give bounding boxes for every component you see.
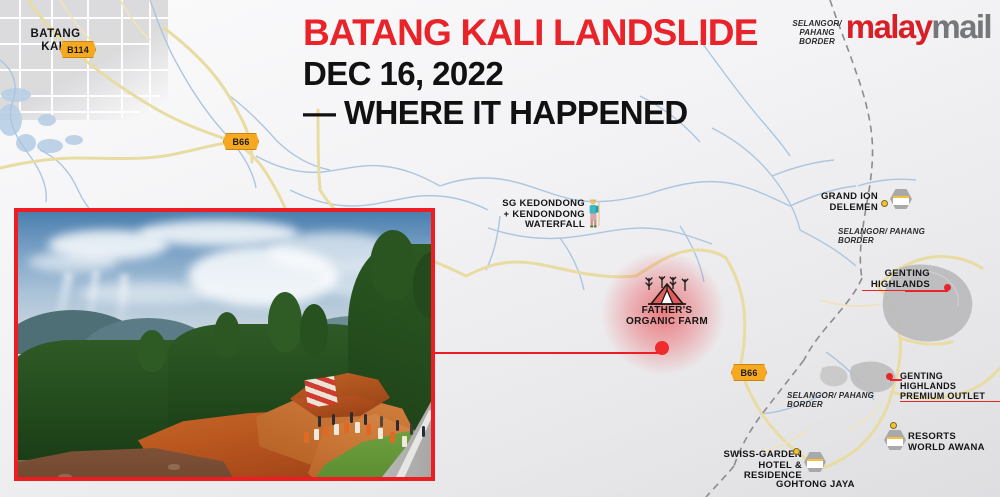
infographic-canvas: B114 B66 B66 BATANG KALI LANDSLIDE DEC 1… xyxy=(0,0,1000,497)
photo-person xyxy=(410,424,413,435)
water-bodies xyxy=(0,88,83,153)
photo-person xyxy=(332,414,335,425)
border-top-line3: BORDER xyxy=(778,38,856,47)
road-badge-b66-south: B66 xyxy=(731,364,767,381)
border-bot-line2: BORDER xyxy=(787,401,897,410)
hiker-icon xyxy=(586,198,602,228)
border-label-middle: SELANGOR/ PAHANG BORDER xyxy=(838,228,948,246)
label-gohtong-line1: GOHTONG JAYA xyxy=(776,480,886,491)
campsite-tent-icon xyxy=(640,276,694,306)
label-outlet-line2: PREMIUM OUTLET xyxy=(900,391,1000,402)
photo-tree xyxy=(370,230,416,300)
label-genting-highlands: GENTING HIGHLANDS xyxy=(862,269,930,291)
photo-person xyxy=(318,416,321,427)
photo-person xyxy=(364,414,367,425)
genting-highlands-marker xyxy=(944,284,951,291)
logo-part-mail: mail xyxy=(931,8,991,45)
label-grand-ion-delemen: GRAND ION DELEMEN xyxy=(790,192,878,213)
road-badge-b114: B114 xyxy=(60,41,96,58)
label-farm-line1: FATHER'S xyxy=(612,305,722,316)
photo-tree xyxy=(268,292,302,352)
photo-traffic-barrier xyxy=(344,422,349,433)
headline-date: DEC 16, 2022 xyxy=(303,55,758,93)
landslide-photo xyxy=(18,212,431,477)
label-batang-kali-line1: BATANG xyxy=(8,28,103,41)
photo-traffic-barrier xyxy=(304,432,309,443)
photo-warning-tape xyxy=(304,376,338,408)
malaymail-logo: malaymail xyxy=(846,8,991,46)
photo-traffic-barrier xyxy=(366,424,371,435)
photo-cloud xyxy=(78,282,218,304)
label-premium-outlet: GENTING HIGHLANDS PREMIUM OUTLET xyxy=(900,371,1000,402)
photo-person xyxy=(396,420,399,431)
photo-person xyxy=(422,426,425,437)
label-resorts-world-awana: RESORTS WORLD AWANA xyxy=(908,432,1000,453)
border-label-bottom: SELANGOR/ PAHANG BORDER xyxy=(787,392,897,410)
grand-ion-delemen-dot xyxy=(881,200,888,207)
photo-tree xyxy=(138,330,166,372)
logo-part-malay: malay xyxy=(846,8,932,45)
photo-traffic-barrier xyxy=(390,432,395,443)
photo-traffic-barrier xyxy=(314,429,319,440)
headline-subtitle: — WHERE IT HAPPENED xyxy=(303,94,758,132)
label-outlet-line1: GENTING HIGHLANDS xyxy=(900,371,1000,391)
premium-outlet-marker xyxy=(886,373,893,380)
photo-tree xyxy=(300,304,328,356)
headline-block: BATANG KALI LANDSLIDE DEC 16, 2022 — WHE… xyxy=(303,14,758,132)
photo-person xyxy=(380,416,383,427)
road-badge-b66-north: B66 xyxy=(223,133,259,150)
awana-road-dot xyxy=(890,422,897,429)
label-awana-line2: WORLD AWANA xyxy=(908,443,1000,454)
photo-traffic-barrier xyxy=(324,426,329,437)
label-grand-ion-line2: DELEMEN xyxy=(790,203,878,214)
photo-traffic-barrier xyxy=(355,422,360,433)
label-gohtong-jaya: GOHTONG JAYA xyxy=(776,480,886,491)
photo-rock xyxy=(58,474,72,477)
photo-cloud xyxy=(28,252,118,272)
swiss-garden-road-dot xyxy=(793,448,800,455)
border-mid-line2: BORDER xyxy=(838,237,948,246)
label-kedondong-line3: WATERFALL xyxy=(495,220,585,231)
border-label-top: SELANGOR/ PAHANG BORDER xyxy=(778,20,856,47)
photo-rock xyxy=(168,464,180,470)
headline-primary: BATANG KALI LANDSLIDE xyxy=(303,14,758,52)
landslide-photo-inset xyxy=(14,208,435,481)
photo-tree xyxy=(214,312,240,358)
premium-outlet-leader-line xyxy=(890,379,902,381)
photo-person xyxy=(350,412,353,423)
label-swiss-garden: SWISS-GARDEN HOTEL & RESIDENCE xyxy=(702,450,802,482)
label-sg-kedondong: SG KEDONDONG + KENDONDONG WATERFALL xyxy=(495,199,585,231)
photo-traffic-barrier xyxy=(334,424,339,435)
genting-leader-line xyxy=(905,290,948,292)
photo-traffic-barrier xyxy=(402,436,407,447)
photo-traffic-barrier xyxy=(378,428,383,439)
landslide-location-pin xyxy=(655,341,669,355)
label-farm-line2: ORGANIC FARM xyxy=(612,316,722,327)
label-fathers-organic-farm: FATHER'S ORGANIC FARM xyxy=(612,305,722,327)
